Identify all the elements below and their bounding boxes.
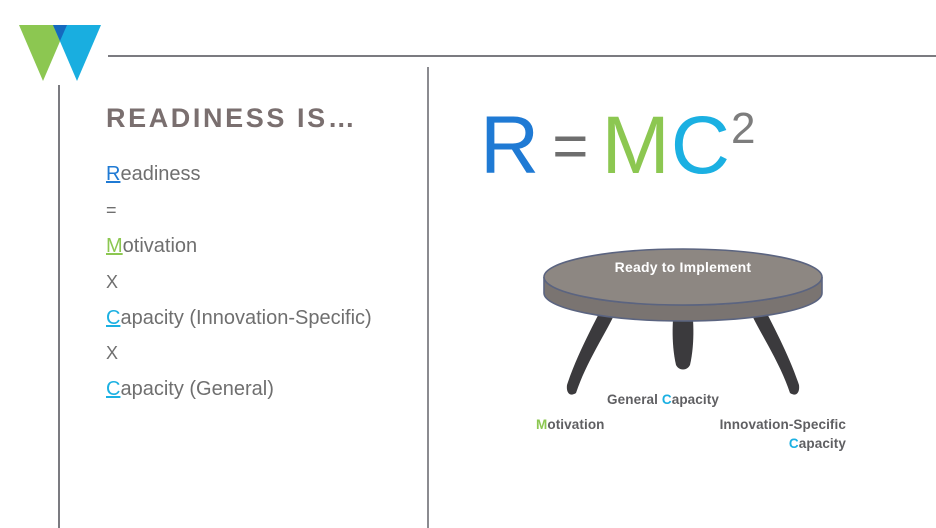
initial-letter-c-innovation: C xyxy=(106,307,120,329)
stool-seat xyxy=(544,249,822,321)
list-item-motivation: Motivation xyxy=(106,234,406,260)
header-divider-horizontal xyxy=(108,55,936,57)
label-motivation-rest: otivation xyxy=(547,417,604,432)
formula-letter-c: C xyxy=(671,100,731,191)
term-capacity-innovation-rest: apacity (Innovation-Specific) xyxy=(120,307,371,329)
label-innovation-initial-c: C xyxy=(789,436,799,451)
wandersman-w-logo-icon xyxy=(17,24,103,82)
list-item-capacity-innovation: Capacity (Innovation-Specific) xyxy=(106,306,406,332)
initial-letter-c-general: C xyxy=(106,378,120,400)
label-general-capacity: General Capacity xyxy=(588,391,738,410)
term-readiness-rest: eadiness xyxy=(120,163,200,185)
list-item-readiness: Readiness xyxy=(106,162,406,188)
formula-letter-m: M xyxy=(601,100,670,191)
label-innovation-specific-capacity: Innovation-Specific Capacity xyxy=(686,416,846,454)
left-text-column: READINESS IS… Readiness = Motivation X C… xyxy=(106,104,406,414)
three-legged-stool-illustration xyxy=(538,247,828,407)
label-general-prefix: General xyxy=(607,392,662,407)
label-motivation-initial-m: M xyxy=(536,417,547,432)
slide-canvas: READINESS IS… Readiness = Motivation X C… xyxy=(0,0,936,528)
formula-letter-r: R xyxy=(480,100,540,191)
formula-equals-sign: = xyxy=(540,112,601,181)
list-item-times-2: X xyxy=(106,342,406,365)
label-general-rest: apacity xyxy=(672,392,719,407)
initial-letter-r: R xyxy=(106,163,120,185)
readiness-equation-list: Readiness = Motivation X Capacity (Innov… xyxy=(106,162,406,402)
formula-r-equals-mc-squared: R=MC2 xyxy=(480,105,756,187)
term-motivation-rest: otivation xyxy=(123,235,198,257)
label-innovation-line1: Innovation-Specific xyxy=(720,417,846,432)
list-item-times-1: X xyxy=(106,271,406,294)
initial-letter-m: M xyxy=(106,235,123,257)
left-margin-divider-vertical xyxy=(58,85,60,528)
formula-superscript-two: 2 xyxy=(731,104,756,153)
list-item-capacity-general: Capacity (General) xyxy=(106,377,406,403)
list-item-equals: = xyxy=(106,199,406,222)
term-capacity-general-rest: apacity (General) xyxy=(120,378,273,400)
right-graphic-column: R=MC2 Ready to Implement General C xyxy=(428,67,936,528)
page-title: READINESS IS… xyxy=(106,104,406,132)
label-general-initial-c: C xyxy=(662,392,672,407)
label-motivation: Motivation xyxy=(536,416,666,435)
label-innovation-rest: apacity xyxy=(799,436,846,451)
